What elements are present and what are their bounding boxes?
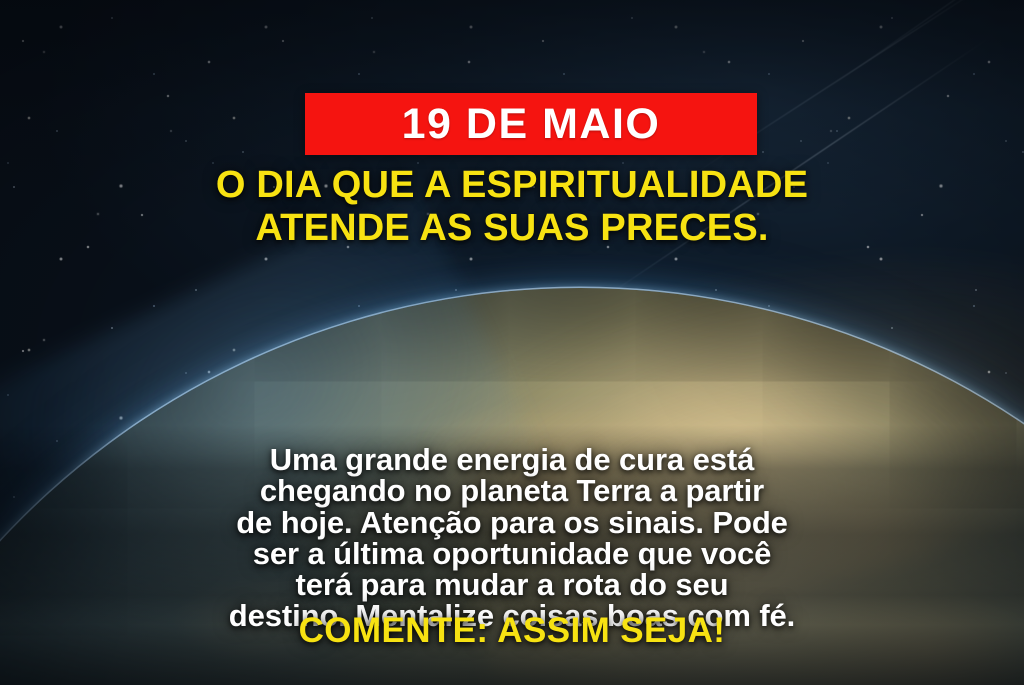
- headline-line-2: ATENDE AS SUAS PRECES.: [0, 207, 1024, 250]
- poster-canvas: 19 DE MAIO O DIA QUE A ESPIRITUALIDADE A…: [0, 0, 1024, 685]
- body-copy-line-3: de hoje. Atenção para os sinais. Pode: [50, 507, 974, 538]
- headline-line-1: O DIA QUE A ESPIRITUALIDADE: [0, 164, 1024, 207]
- date-banner: 19 DE MAIO: [305, 93, 757, 155]
- body-copy: Uma grande energia de cura está chegando…: [50, 444, 974, 632]
- body-copy-line-5: terá para mudar a rota do seu: [50, 569, 974, 600]
- date-banner-label: 19 DE MAIO: [402, 103, 661, 146]
- headline: O DIA QUE A ESPIRITUALIDADE ATENDE AS SU…: [0, 164, 1024, 249]
- poster-content: 19 DE MAIO O DIA QUE A ESPIRITUALIDADE A…: [0, 0, 1024, 685]
- body-copy-line-1: Uma grande energia de cura está: [50, 444, 974, 475]
- body-copy-line-2: chegando no planeta Terra a partir: [50, 475, 974, 506]
- body-copy-line-4: ser a última oportunidade que você: [50, 538, 974, 569]
- call-to-action-text: COMENTE: ASSIM SEJA!: [0, 613, 1024, 648]
